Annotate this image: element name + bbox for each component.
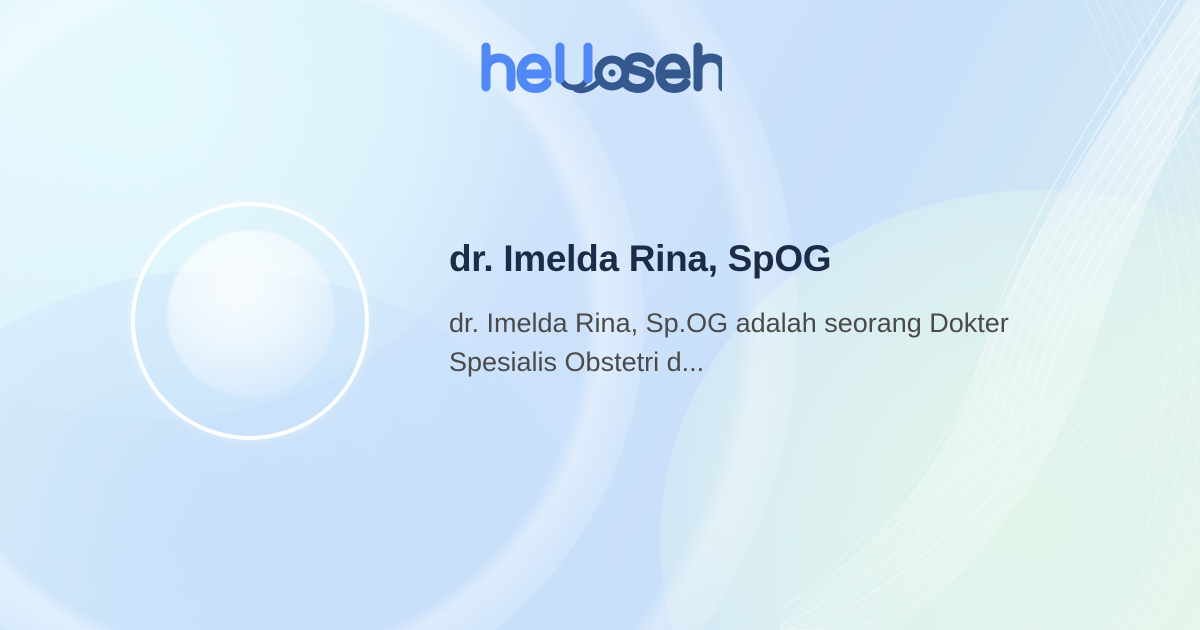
page-title: dr. Imelda Rina, SpOG <box>449 236 1049 282</box>
share-card: dr. Imelda Rina, SpOG dr. Imelda Rina, S… <box>0 0 1200 630</box>
site-logo[interactable] <box>0 38 1200 102</box>
text-block: dr. Imelda Rina, SpOG dr. Imelda Rina, S… <box>449 236 1049 382</box>
hellosehat-logo-svg <box>478 39 722 101</box>
white-circle-ring <box>131 202 369 440</box>
page-description: dr. Imelda Rina, Sp.OG adalah seorang Do… <box>449 304 1024 382</box>
